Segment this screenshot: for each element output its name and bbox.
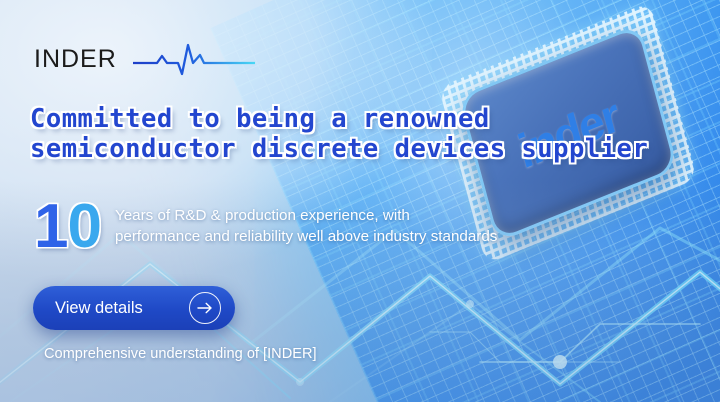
brand-name: INDER — [34, 47, 117, 72]
stat-digit-one: 1 — [34, 198, 67, 256]
stat-number: 1 0 — [34, 198, 101, 256]
stat-description-line-2: performance and reliability well above i… — [115, 226, 497, 247]
banner-caption: Comprehensive understanding of [INDER] — [44, 346, 317, 362]
experience-stat: 1 0 Years of R&D & production experience… — [34, 198, 497, 256]
headline-line-2: semiconductor discrete devices supplier — [30, 134, 690, 164]
stat-description-line-1: Years of R&D & production experience, wi… — [115, 205, 497, 226]
view-details-label: View details — [55, 299, 189, 318]
banner-content: INDER Committed to being a renowned semi… — [0, 0, 720, 402]
brand-logo[interactable]: INDER — [34, 42, 255, 76]
headline-line-1: Committed to being a renowned — [30, 104, 690, 134]
stat-digit-zero: 0 — [67, 198, 100, 256]
headline: Committed to being a renowned semiconduc… — [30, 104, 690, 164]
arrow-right-icon — [189, 292, 221, 324]
stat-description: Years of R&D & production experience, wi… — [115, 198, 497, 247]
hero-banner: inder — [0, 0, 720, 402]
ecg-pulse-icon — [133, 42, 255, 76]
view-details-button[interactable]: View details — [33, 286, 235, 330]
